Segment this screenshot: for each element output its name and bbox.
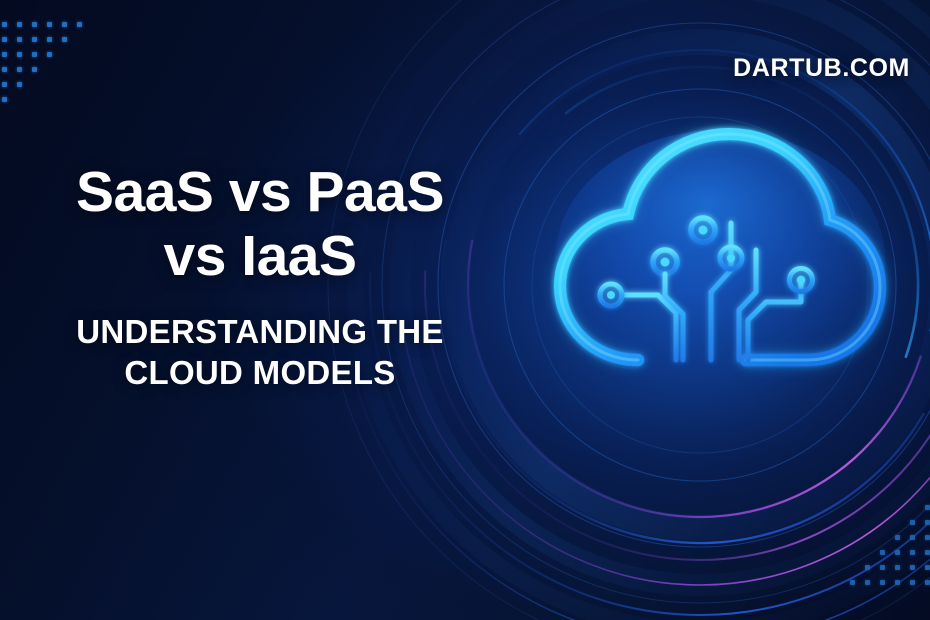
watermark-dartub: DARTUB.COM xyxy=(733,54,910,83)
decor-dot xyxy=(2,82,7,87)
subtitle-line-1: UNDERSTANDING THE xyxy=(0,311,520,353)
decor-dot xyxy=(47,37,52,42)
dot-grid-bottom-right xyxy=(820,505,930,615)
decor-dot xyxy=(62,22,67,27)
decor-dot xyxy=(925,580,930,585)
decor-dot xyxy=(17,22,22,27)
decor-dot xyxy=(17,52,22,57)
decor-dot xyxy=(17,67,22,72)
decor-dot xyxy=(32,22,37,27)
decor-dot xyxy=(865,580,870,585)
page-subtitle: UNDERSTANDING THE CLOUD MODELS xyxy=(0,311,520,394)
decor-dot xyxy=(2,52,7,57)
decor-dot xyxy=(865,565,870,570)
banner-canvas: DARTUB.COM xyxy=(0,0,930,620)
decor-dot xyxy=(47,22,52,27)
dot-grid-top-left xyxy=(2,22,112,132)
decor-dot xyxy=(895,565,900,570)
decor-dot xyxy=(880,550,885,555)
page-title: SaaS vs PaaS vs IaaS xyxy=(0,160,520,289)
decor-dot xyxy=(32,67,37,72)
decor-dot xyxy=(32,52,37,57)
decor-dot xyxy=(910,535,915,540)
decor-dot xyxy=(47,52,52,57)
decor-dot xyxy=(910,550,915,555)
decor-dot xyxy=(895,550,900,555)
decor-dot xyxy=(32,37,37,42)
decor-dot xyxy=(2,67,7,72)
decor-dot xyxy=(17,37,22,42)
decor-dot xyxy=(880,565,885,570)
decor-dot xyxy=(925,505,930,510)
decor-dot xyxy=(925,565,930,570)
cloud-circuit-icon xyxy=(498,110,898,440)
decor-dot xyxy=(77,22,82,27)
subtitle-line-2: CLOUD MODELS xyxy=(0,352,520,394)
decor-dot xyxy=(925,520,930,525)
decor-dot xyxy=(850,580,855,585)
title-line-2: vs IaaS xyxy=(0,224,520,288)
decor-dot xyxy=(17,82,22,87)
decor-dot xyxy=(2,37,7,42)
decor-dot xyxy=(910,580,915,585)
decor-dot xyxy=(925,535,930,540)
decor-dot xyxy=(62,37,67,42)
decor-dot xyxy=(880,580,885,585)
decor-dot xyxy=(910,565,915,570)
title-line-1: SaaS vs PaaS xyxy=(0,160,520,224)
text-block: SaaS vs PaaS vs IaaS UNDERSTANDING THE C… xyxy=(0,160,520,394)
decor-dot xyxy=(895,580,900,585)
decor-dot xyxy=(895,535,900,540)
decor-dot xyxy=(2,22,7,27)
decor-dot xyxy=(910,520,915,525)
decor-dot xyxy=(925,550,930,555)
decor-dot xyxy=(2,97,7,102)
